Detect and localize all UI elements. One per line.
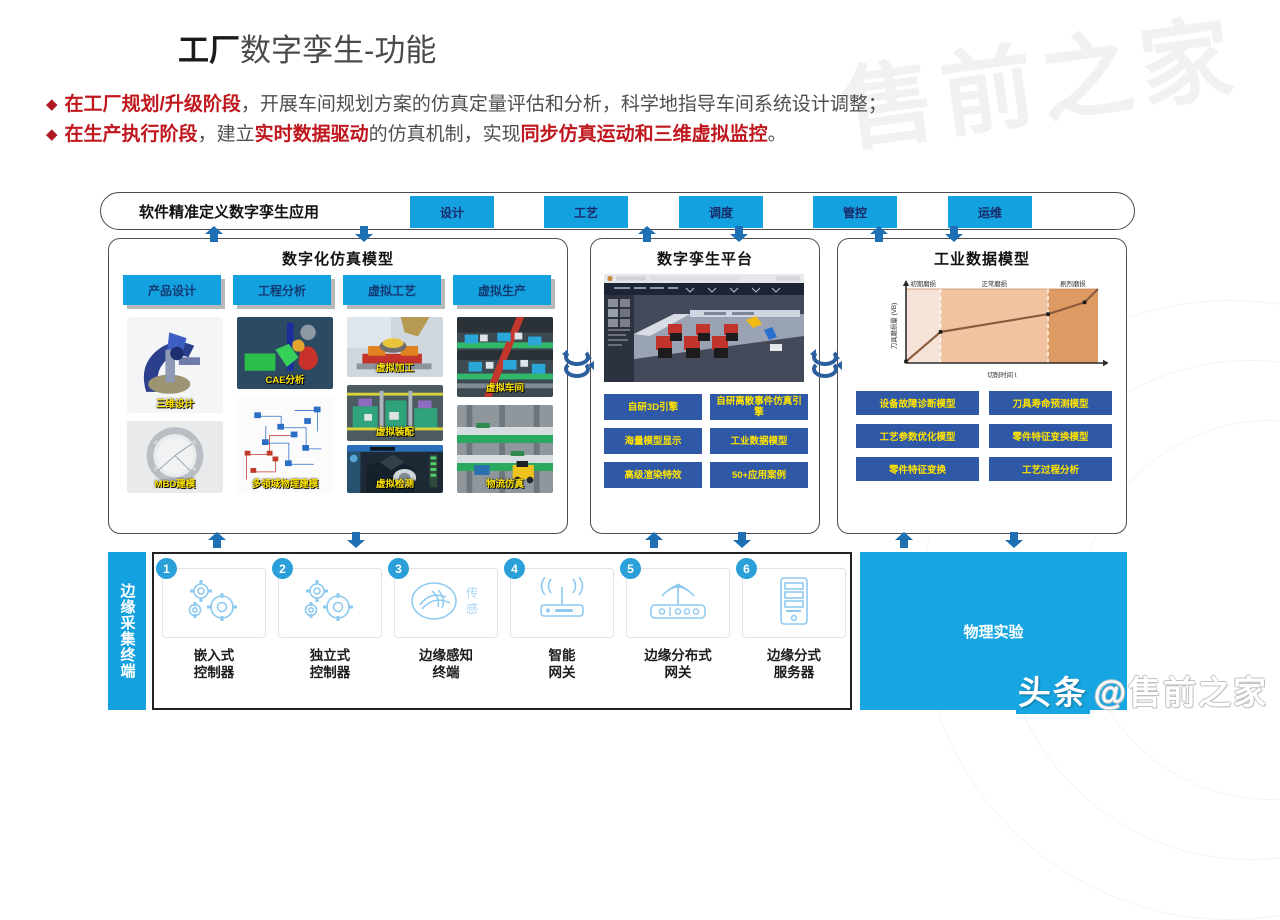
physical-experiment-label: 物理实验	[963, 621, 1023, 642]
tool-wear-chart: 初期磨损正常磨损剧烈磨损切削时间 t刀具磨损量 (VB)	[860, 273, 1108, 383]
chip-product-design[interactable]: 产品设计	[123, 275, 221, 305]
topbar-chip-process[interactable]: 工艺	[544, 196, 628, 228]
btn-50plus-cases[interactable]: 50+应用案例	[710, 462, 808, 488]
edge-device-item[interactable]: 3 传 感边缘感知终端	[394, 568, 498, 681]
panel-digital-twin-platform: 数字孪生平台	[590, 238, 820, 534]
svg-text:刀具磨损量 (VB): 刀具磨损量 (VB)	[889, 303, 898, 350]
edge-device-item[interactable]: 6 边缘分式服务器	[742, 568, 846, 681]
gateway-icon	[527, 577, 597, 630]
thumbnail-caption: MBD建模	[155, 476, 196, 493]
arrow-up-icon	[870, 226, 888, 242]
edge-device-number: 3	[388, 558, 409, 579]
server-icon	[768, 575, 820, 632]
bullet-2-red-a: 在生产执行阶段	[65, 124, 198, 145]
arrow-down-icon	[730, 226, 748, 242]
svg-text:剧烈磨损: 剧烈磨损	[1060, 279, 1086, 288]
thumbnail-workshop: 虚拟车间	[457, 317, 553, 397]
arrow-up-icon	[205, 226, 223, 242]
arrow-up-icon	[638, 226, 656, 242]
edge-caption-line2: 服务器	[742, 664, 846, 681]
thumbnail-assembly: 虚拟装配	[347, 385, 443, 441]
arrow-up-icon	[208, 532, 226, 548]
topbar-chip-maintenance[interactable]: 运维	[948, 196, 1032, 228]
arrow-up-icon	[895, 532, 913, 548]
chip-virtual-process[interactable]: 虚拟工艺	[343, 275, 441, 305]
edge-caption-line1: 嵌入式	[162, 647, 266, 664]
list-item: ◆ 在生产执行阶段，建立实时数据驱动的仿真机制，实现同步仿真运动和三维虚拟监控。	[46, 120, 887, 150]
btn-tool-life-prediction-model[interactable]: 刀具寿命预测模型	[989, 391, 1112, 415]
gears-icon	[295, 577, 365, 630]
bullet-2-gray-c: 。	[768, 124, 787, 145]
thumbnail-cad-blue: 三维设计	[127, 317, 223, 413]
arrow-down-icon	[1005, 532, 1023, 548]
edge-device-number: 6	[736, 558, 757, 579]
thumbnail-caption: 虚拟加工	[376, 360, 414, 377]
edge-caption-line2: 终端	[394, 664, 498, 681]
edge-device-item[interactable]: 5 边缘分布式网关	[626, 568, 730, 681]
edge-caption-line1: 边缘分布式	[626, 647, 730, 664]
edge-device-number: 2	[272, 558, 293, 579]
chip-virtual-production[interactable]: 虚拟生产	[453, 275, 551, 305]
svg-text:传: 传	[466, 585, 478, 600]
brand-handle: @售前之家	[1094, 666, 1268, 714]
gears-icon	[179, 577, 249, 630]
thumbnail-caption: 虚拟车间	[486, 380, 524, 397]
page-title-bold: 工厂	[178, 33, 240, 68]
digital-twin-platform-screenshot	[604, 274, 804, 382]
list-item: ◆ 在工厂规划/升级阶段，开展车间规划方案的仿真定量评估和分析，科学地指导车间系…	[46, 90, 887, 120]
bullet-2-gray-a: ，建立	[198, 124, 255, 145]
sensor-icon: 传 感	[408, 577, 484, 630]
router-icon	[641, 577, 715, 630]
svg-text:正常磨损: 正常磨损	[982, 279, 1008, 288]
svg-text:初期磨损: 初期磨损	[910, 279, 936, 288]
brand-watermark: 头条 @售前之家	[1016, 666, 1268, 714]
panel-simulation-model: 数字化仿真模型 产品设计 工程分析 虚拟工艺 虚拟生产 三维设计 MBD建模	[108, 238, 568, 534]
edge-caption-line1: 边缘分式	[742, 647, 846, 664]
edge-device-card[interactable]: 5	[626, 568, 730, 638]
bullet-2-red-b: 实时数据驱动	[255, 124, 369, 145]
edge-collection-label-text: 边缘采集终端	[118, 583, 137, 679]
bullet-2-red-c: 同步仿真运动和三维虚拟监控	[521, 124, 768, 145]
arrow-down-icon	[355, 226, 373, 242]
bullet-1-red: 在工厂规划/升级阶段	[65, 94, 241, 115]
edge-device-card[interactable]: 6	[742, 568, 846, 638]
bullet-list: ◆ 在工厂规划/升级阶段，开展车间规划方案的仿真定量评估和分析，科学地指导车间系…	[46, 90, 887, 150]
edge-device-card[interactable]: 4	[510, 568, 614, 638]
thumbnail-caption: 物流仿真	[486, 476, 524, 493]
btn-advanced-render-fx[interactable]: 高级渲染特效	[604, 462, 702, 488]
btn-self-des-engine[interactable]: 自研离散事件仿真引擎	[710, 394, 808, 420]
thumbnail-caption: 虚拟装配	[376, 424, 414, 441]
btn-process-param-optimization-model[interactable]: 工艺参数优化模型	[856, 424, 979, 448]
topbar-chip-design[interactable]: 设计	[410, 196, 494, 228]
thumbnail-cae-green: CAE分析	[237, 317, 333, 389]
edge-device-item[interactable]: 1 嵌入式控制器	[162, 568, 266, 681]
edge-device-item[interactable]: 4 智能网关	[510, 568, 614, 681]
arrow-down-icon	[945, 226, 963, 242]
arrow-up-icon	[645, 532, 663, 548]
edge-device-caption: 嵌入式控制器	[162, 647, 266, 681]
thumbnail-schematic: 多领域物理建模	[237, 397, 333, 493]
topbar-chip-control[interactable]: 管控	[813, 196, 897, 228]
edge-device-number: 4	[504, 558, 525, 579]
brand-tag: 头条	[1016, 666, 1090, 714]
edge-device-caption: 智能网关	[510, 647, 614, 681]
edge-caption-line1: 独立式	[278, 647, 382, 664]
edge-device-caption: 独立式控制器	[278, 647, 382, 681]
svg-text:切削时间 t: 切削时间 t	[987, 370, 1016, 379]
edge-device-caption: 边缘分式服务器	[742, 647, 846, 681]
edge-collection-label: 边缘采集终端	[108, 552, 146, 710]
edge-caption-line1: 边缘感知	[394, 647, 498, 664]
edge-caption-line2: 控制器	[162, 664, 266, 681]
btn-industrial-data-model[interactable]: 工业数据模型	[710, 428, 808, 454]
edge-caption-line2: 网关	[510, 664, 614, 681]
page-title-rest: 数字孪生-功能	[240, 33, 436, 68]
edge-device-number: 5	[620, 558, 641, 579]
architecture-diagram: 软件精准定义数字孪生应用 设计 工艺 调度 管控 运维 数字化仿真模型 产品设计…	[100, 192, 1135, 717]
panel-left-chip-row: 产品设计 工程分析 虚拟工艺 虚拟生产	[123, 275, 557, 305]
panel-left-title: 数字化仿真模型	[109, 248, 567, 269]
thumbnail-logistics: 物流仿真	[457, 405, 553, 493]
edge-caption-line2: 网关	[626, 664, 730, 681]
edge-collection-band: 边缘采集终端 1 嵌入式控制器2 独立式控制器3 传 感边缘感知终	[108, 544, 1127, 712]
btn-self-3d-engine[interactable]: 自研3D引擎	[604, 394, 702, 420]
panel-mid-title: 数字孪生平台	[591, 248, 819, 269]
edge-device-number: 1	[156, 558, 177, 579]
thumbnail-inspect: 虚拟检测	[347, 445, 443, 493]
sync-cycle-icon	[560, 339, 594, 384]
thumbnail-caption: 虚拟检测	[376, 476, 414, 493]
panel-right-title: 工业数据模型	[838, 248, 1126, 269]
thumbnail-caption: 三维设计	[156, 396, 194, 413]
diamond-icon: ◆	[46, 90, 58, 120]
btn-process-analysis[interactable]: 工艺过程分析	[989, 457, 1112, 481]
panel-mid-button-grid: 自研3D引擎自研离散事件仿真引擎海量模型显示工业数据模型高级渲染特效50+应用案…	[604, 394, 808, 488]
btn-fault-diagnosis-model[interactable]: 设备故障诊断模型	[856, 391, 979, 415]
bullet-2-gray-b: 的仿真机制，实现	[369, 124, 521, 145]
panel-right-button-grid: 设备故障诊断模型刀具寿命预测模型工艺参数优化模型零件特征变换模型零件特征变换工艺…	[856, 391, 1112, 481]
sync-cycle-icon	[808, 339, 842, 384]
edge-device-caption: 边缘分布式网关	[626, 647, 730, 681]
edge-device-container: 1 嵌入式控制器2 独立式控制器3 传 感边缘感知终端4	[152, 552, 852, 710]
edge-device-card[interactable]: 1	[162, 568, 266, 638]
thumbnail-mbd-gray: MBD建模	[127, 421, 223, 493]
thumbnail-machining: 虚拟加工	[347, 317, 443, 377]
arrow-down-icon	[733, 532, 751, 548]
bullet-1-gray: ，开展车间规划方案的仿真定量评估和分析，科学地指导车间系统设计调整；	[241, 94, 887, 115]
application-layer-title: 软件精准定义数字孪生应用	[101, 201, 319, 222]
btn-massive-model-display[interactable]: 海量模型显示	[604, 428, 702, 454]
edge-caption-line2: 控制器	[278, 664, 382, 681]
thumbnail-caption: 多领域物理建模	[252, 476, 319, 493]
edge-device-item[interactable]: 2 独立式控制器	[278, 568, 382, 681]
svg-text:感: 感	[466, 601, 478, 616]
thumbnail-caption: CAE分析	[265, 372, 304, 389]
edge-device-card[interactable]: 3 传 感	[394, 568, 498, 638]
diamond-icon: ◆	[46, 120, 58, 150]
btn-part-feature-transform[interactable]: 零件特征变换	[856, 457, 979, 481]
edge-device-card[interactable]: 2	[278, 568, 382, 638]
edge-device-caption: 边缘感知终端	[394, 647, 498, 681]
edge-caption-line1: 智能	[510, 647, 614, 664]
arrow-down-icon	[347, 532, 365, 548]
page-title: 工厂数字孪生-功能	[178, 25, 436, 70]
topbar-chip-scheduling[interactable]: 调度	[679, 196, 763, 228]
btn-part-feature-transform-model[interactable]: 零件特征变换模型	[989, 424, 1112, 448]
application-layer-bar: 软件精准定义数字孪生应用 设计 工艺 调度 管控 运维	[100, 192, 1135, 230]
chip-engineering-analysis[interactable]: 工程分析	[233, 275, 331, 305]
background-watermark-text: 售前之家	[833, 0, 1248, 170]
panel-industrial-data-model: 工业数据模型 初期磨损正常磨损剧烈磨损切削时间 t刀具磨损量 (VB) 设备故障…	[837, 238, 1127, 534]
